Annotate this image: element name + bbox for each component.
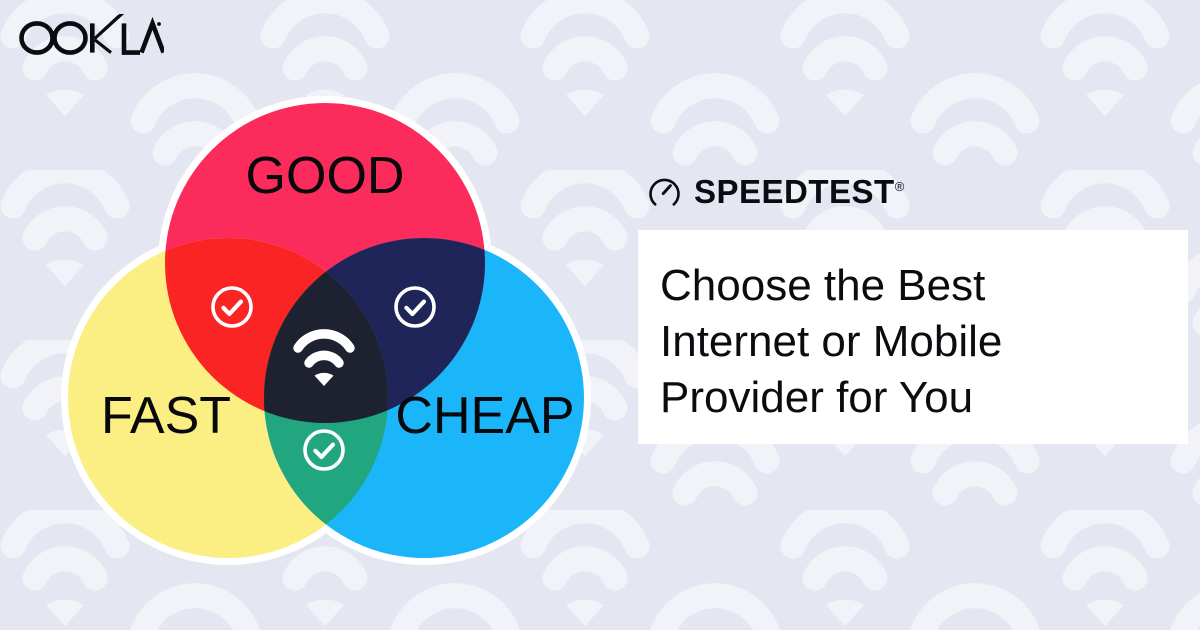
speedometer-icon <box>648 175 681 208</box>
poster-canvas: GOOD FAST CHEAP <box>0 0 1200 630</box>
speedtest-registered-mark: ® <box>895 179 905 194</box>
ookla-registered-mark <box>157 22 161 26</box>
venn-label-good: GOOD <box>246 147 405 205</box>
venn-label-fast: FAST <box>101 387 231 445</box>
headline-line-2: Internet or Mobile <box>660 314 1188 370</box>
venn-label-cheap: CHEAP <box>395 387 574 445</box>
right-content-column: SPEEDTEST® Choose the Best Internet or M… <box>638 168 1194 444</box>
headline-card: Choose the Best Internet or Mobile Provi… <box>638 230 1188 444</box>
ookla-logo <box>14 14 164 60</box>
headline-line-1: Choose the Best <box>660 258 1188 314</box>
speedtest-wordmark-text: SPEEDTEST <box>694 173 895 210</box>
speedtest-logo: SPEEDTEST® <box>648 168 1194 214</box>
headline-line-3: Provider for You <box>660 370 1188 426</box>
speedtest-wordmark: SPEEDTEST® <box>694 175 904 208</box>
venn-diagram: GOOD FAST CHEAP <box>40 50 610 590</box>
